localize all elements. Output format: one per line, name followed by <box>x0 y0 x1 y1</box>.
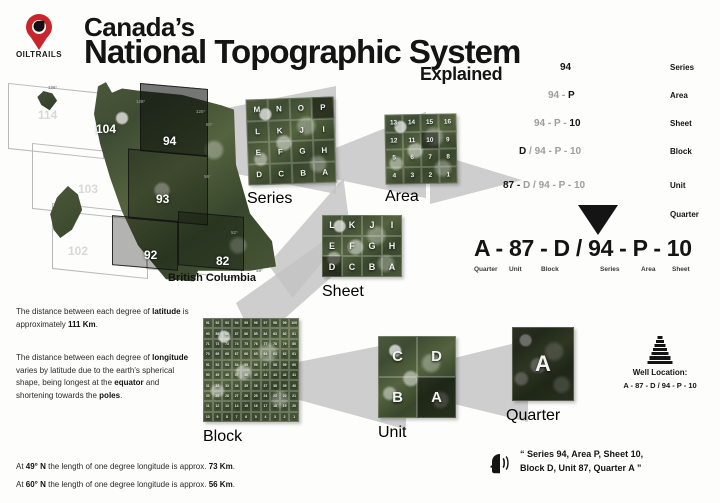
block-cell[interactable]: 48 <box>222 370 232 380</box>
code-part-label-block: Block <box>541 266 559 273</box>
oil-derrick-icon <box>646 336 674 366</box>
block-cell[interactable]: 54 <box>232 360 242 370</box>
degree-tick: 136° <box>48 85 57 90</box>
block-cell[interactable]: 70 <box>203 349 213 359</box>
degree-tick: 60° <box>206 122 213 127</box>
unit-cell[interactable]: D <box>417 336 456 377</box>
panel-unit-caption: Unit <box>378 424 456 442</box>
block-cell[interactable]: 46 <box>241 370 251 380</box>
block-cell[interactable]: 14 <box>232 401 242 411</box>
block-cell[interactable]: 72 <box>213 339 223 349</box>
block-cell[interactable]: 44 <box>261 370 271 380</box>
series-cell[interactable]: N <box>268 98 291 120</box>
block-cell[interactable]: 64 <box>261 349 271 359</box>
map-nts-cell-92 <box>112 215 178 271</box>
degree-tick: 49° <box>256 268 263 273</box>
series-cell[interactable]: C <box>270 162 293 184</box>
legend-code-series: 94 <box>560 62 571 73</box>
sheet-grid: LKJIEFGHDCBA <box>322 215 402 277</box>
unit-cell[interactable]: C <box>378 336 417 377</box>
degree-tick: 56° <box>204 174 211 179</box>
block-cell[interactable]: 26 <box>241 391 251 401</box>
legend-label-quarter: Quarter <box>670 210 699 219</box>
block-cell[interactable]: 85 <box>251 328 261 338</box>
note-latitude-end: . <box>96 320 98 329</box>
map-cell-label-103: 103 <box>78 182 98 196</box>
sheet-cell[interactable]: E <box>322 236 342 257</box>
block-cell[interactable]: 37 <box>261 380 271 390</box>
block-cell[interactable]: 66 <box>241 349 251 359</box>
area-cell[interactable]: 1 <box>439 166 457 184</box>
series-cell[interactable]: D <box>248 163 271 185</box>
block-cell[interactable]: 9 <box>213 412 223 422</box>
panel-block-caption: Block <box>203 428 299 446</box>
block-cell[interactable]: 21 <box>289 391 299 401</box>
block-cell[interactable]: 80 <box>289 339 299 349</box>
map-nts-cell-82 <box>178 211 244 271</box>
block-cell[interactable]: 13 <box>222 401 232 411</box>
area-cell[interactable]: 12 <box>385 132 403 150</box>
legend-suffix-unit: D / 94 - P - 10 <box>523 180 585 191</box>
block-cell[interactable]: 91 <box>203 318 213 328</box>
legend-label-sheet: Sheet <box>670 119 692 128</box>
block-cell[interactable]: 90 <box>203 328 213 338</box>
block-cell[interactable]: 99 <box>280 318 290 328</box>
block-cell[interactable]: 35 <box>241 380 251 390</box>
code-part-label-unit: Unit <box>509 266 522 273</box>
code-part-label-area: Area <box>641 266 655 273</box>
block-cell[interactable]: 71 <box>203 339 213 349</box>
sheet-cell[interactable]: J <box>362 215 382 236</box>
block-cell[interactable]: 92 <box>213 318 223 328</box>
area-cell[interactable]: 11 <box>403 132 421 150</box>
map-cell-label-93: 93 <box>156 192 169 206</box>
block-cell[interactable]: 56 <box>251 360 261 370</box>
area-cell[interactable]: 7 <box>421 149 439 167</box>
series-cell[interactable]: H <box>313 139 336 161</box>
block-cell[interactable]: 19 <box>280 401 290 411</box>
block-cell[interactable]: 24 <box>261 391 271 401</box>
block-cell[interactable]: 58 <box>270 360 280 370</box>
legend-row-area: 94 - P <box>548 90 575 101</box>
block-cell[interactable]: 93 <box>222 318 232 328</box>
block-cell[interactable]: 76 <box>251 339 261 349</box>
area-grid: 13141516121110956784321 <box>384 113 457 184</box>
block-cell[interactable]: 87 <box>232 328 242 338</box>
degree-tick: 120° <box>196 109 205 114</box>
sheet-cell[interactable]: H <box>382 236 402 257</box>
block-cell[interactable]: 36 <box>251 380 261 390</box>
block-cell[interactable]: 73 <box>222 339 232 349</box>
legend-code-sheet: 10 <box>569 118 580 129</box>
block-cell[interactable]: 43 <box>270 370 280 380</box>
note-longitude: The distance between each degree of long… <box>16 352 194 402</box>
block-cell[interactable]: 4 <box>261 412 271 422</box>
block-cell[interactable]: 7 <box>232 412 242 422</box>
block-cell[interactable]: 59 <box>280 360 290 370</box>
legend-row-block: D / 94 - P - 10 <box>519 146 581 157</box>
map-cell-label-102: 102 <box>68 244 88 258</box>
logo-wordmark: OILTRAILS <box>8 50 70 59</box>
block-cell[interactable]: 8 <box>222 412 232 422</box>
series-cell[interactable]: P <box>311 96 334 118</box>
block-cell[interactable]: 31 <box>203 380 213 390</box>
block-cell[interactable]: 10 <box>203 412 213 422</box>
block-cell[interactable]: 82 <box>280 328 290 338</box>
series-cell[interactable]: M <box>246 99 269 121</box>
legend-label-unit: Unit <box>670 181 686 190</box>
series-grid: MNOPLKJIEFGHDCBA <box>246 96 337 185</box>
block-cell[interactable]: 5 <box>251 412 261 422</box>
block-cell[interactable]: 28 <box>222 391 232 401</box>
area-cell[interactable]: 15 <box>420 114 438 132</box>
series-cell[interactable]: I <box>312 118 335 140</box>
block-cell[interactable]: 32 <box>213 380 223 390</box>
block-grid: 9192939495969798991009089888786858483828… <box>203 318 299 422</box>
note-latitude: The distance between each degree of lati… <box>16 306 196 331</box>
series-cell[interactable]: L <box>246 120 269 142</box>
area-cell[interactable]: 2 <box>421 166 439 184</box>
block-cell[interactable]: 63 <box>270 349 280 359</box>
degree-tick: 52° <box>231 230 238 235</box>
panel-quarter-caption: Quarter <box>506 407 580 425</box>
title-line-3: Explained <box>420 64 502 85</box>
note-latitude-text: The distance between each degree of <box>16 307 150 316</box>
area-cell[interactable]: 13 <box>384 114 402 132</box>
quote-line-1: “ Series 94, Area P, Sheet 10, <box>520 447 643 461</box>
block-cell[interactable]: 6 <box>241 412 251 422</box>
code-part-label-series: Series <box>600 266 620 273</box>
block-cell[interactable]: 100 <box>289 318 299 328</box>
series-cell[interactable]: B <box>292 162 315 184</box>
block-cell[interactable]: 25 <box>251 391 261 401</box>
sheet-cell[interactable]: D <box>322 256 342 277</box>
block-cell[interactable]: 95 <box>241 318 251 328</box>
speaking-head-icon <box>484 450 510 476</box>
sheet-cell[interactable]: G <box>362 236 382 257</box>
block-cell[interactable]: 84 <box>261 328 271 338</box>
series-cell[interactable]: G <box>291 140 314 162</box>
block-cell[interactable]: 62 <box>280 349 290 359</box>
unit-grid: CDBA <box>378 336 456 418</box>
block-cell[interactable]: 2 <box>280 412 290 422</box>
sheet-cell[interactable]: A <box>382 256 402 277</box>
degree-tick: 128° <box>136 99 145 104</box>
block-cell[interactable]: 30 <box>203 391 213 401</box>
map-cell-label-92: 92 <box>144 248 157 262</box>
block-cell[interactable]: 51 <box>203 360 213 370</box>
area-cell[interactable]: 4 <box>385 167 403 185</box>
block-cell[interactable]: 29 <box>213 391 223 401</box>
area-cell[interactable]: 6 <box>403 149 421 167</box>
fact-49n: At 49° N the length of one degree longit… <box>16 462 296 471</box>
legend-row-sheet: 94 - P - 10 <box>534 118 581 129</box>
spoken-quote: “ Series 94, Area P, Sheet 10, Block D, … <box>520 447 643 475</box>
area-cell[interactable]: 8 <box>439 148 457 166</box>
map-cell-label-114: 114 <box>38 108 57 122</box>
panel-series-caption: Series <box>247 190 335 208</box>
map-cell-label-104: 104 <box>96 122 116 136</box>
block-cell[interactable]: 69 <box>213 349 223 359</box>
block-cell[interactable]: 17 <box>261 401 271 411</box>
block-cell[interactable]: 23 <box>270 391 280 401</box>
block-cell[interactable]: 33 <box>222 380 232 390</box>
area-cell[interactable]: 9 <box>439 131 457 149</box>
sheet-cell[interactable]: K <box>342 215 362 236</box>
note-latitude-value: 111 Km <box>68 320 96 329</box>
block-cell[interactable]: 47 <box>232 370 242 380</box>
legend-row-unit: 87 - D / 94 - P - 10 <box>503 180 585 191</box>
code-part-label-quarter: Quarter <box>474 266 497 273</box>
block-cell[interactable]: 83 <box>270 328 280 338</box>
note-latitude-bold-term: latitude <box>152 307 180 316</box>
legend-label-area: Area <box>670 91 688 100</box>
quote-line-2: Block D, Unit 87, Quarter A ” <box>520 461 643 475</box>
area-cell[interactable]: 16 <box>438 113 456 131</box>
block-cell[interactable]: 49 <box>213 370 223 380</box>
block-cell[interactable]: 94 <box>232 318 242 328</box>
block-cell[interactable]: 34 <box>232 380 242 390</box>
block-cell[interactable]: 88 <box>222 328 232 338</box>
block-cell[interactable]: 45 <box>251 370 261 380</box>
legend-prefix-area: 94 - <box>548 90 568 101</box>
panel-series[interactable]: MNOPLKJIEFGHDCBA <box>246 96 337 185</box>
map-cell-label-82: 82 <box>216 254 229 268</box>
legend-row-series: 94 <box>560 62 571 73</box>
block-cell[interactable]: 20 <box>289 401 299 411</box>
block-cell[interactable]: 98 <box>270 318 280 328</box>
legend-label-series: Series <box>670 63 694 72</box>
series-cell[interactable]: K <box>268 120 291 142</box>
panel-area-caption: Area <box>385 188 457 206</box>
block-cell[interactable]: 15 <box>241 401 251 411</box>
series-cell[interactable]: O <box>289 97 312 119</box>
block-cell[interactable]: 97 <box>261 318 271 328</box>
sheet-cell[interactable]: F <box>342 236 362 257</box>
block-cell[interactable]: 22 <box>280 391 290 401</box>
block-cell[interactable]: 41 <box>289 370 299 380</box>
legend-prefix-sheet: 94 - P - <box>534 118 569 129</box>
series-cell[interactable]: A <box>314 161 337 183</box>
unit-cell[interactable]: B <box>378 377 417 418</box>
block-cell[interactable]: 86 <box>241 328 251 338</box>
area-cell[interactable]: 5 <box>385 149 403 167</box>
block-cell[interactable]: 96 <box>251 318 261 328</box>
quarter-grid: A <box>512 327 574 401</box>
legend-suffix-block: / 94 - P - 10 <box>526 146 581 157</box>
panel-sheet-caption: Sheet <box>322 283 402 301</box>
panel-unit[interactable]: CDBA <box>378 336 456 418</box>
block-cell[interactable]: 38 <box>270 380 280 390</box>
map-region-label: British Columbia <box>168 272 256 284</box>
area-cell[interactable]: 3 <box>403 166 421 184</box>
panel-block[interactable]: 9192939495969798991009089888786858483828… <box>203 318 299 422</box>
down-triangle-icon <box>578 205 618 235</box>
series-cell[interactable]: J <box>290 119 313 141</box>
block-cell[interactable]: 65 <box>251 349 261 359</box>
sheet-cell[interactable]: L <box>322 215 342 236</box>
legend-code-unit: 87 - <box>503 180 523 191</box>
block-cell[interactable]: 61 <box>289 349 299 359</box>
block-cell[interactable]: 79 <box>280 339 290 349</box>
sheet-cell[interactable]: I <box>382 215 402 236</box>
block-cell[interactable]: 57 <box>261 360 271 370</box>
block-cell[interactable]: 60 <box>289 360 299 370</box>
full-code-display: A - 87 - D / 94 - P - 10 <box>474 235 692 262</box>
block-cell[interactable]: 74 <box>232 339 242 349</box>
block-cell[interactable]: 81 <box>289 328 299 338</box>
panel-area[interactable]: 13141516121110956784321 <box>384 113 457 184</box>
block-cell[interactable]: 53 <box>222 360 232 370</box>
panel-quarter[interactable]: A <box>512 327 574 401</box>
block-cell[interactable]: 39 <box>280 380 290 390</box>
legend-code-area: P <box>568 90 575 101</box>
map-cell-label-94: 94 <box>163 134 176 148</box>
block-cell[interactable]: 68 <box>222 349 232 359</box>
block-cell[interactable]: 12 <box>213 401 223 411</box>
block-cell[interactable]: 16 <box>251 401 261 411</box>
infographic-poster: OILTRAILS Canada’s National Topographic … <box>0 0 720 503</box>
block-cell[interactable]: 27 <box>232 391 242 401</box>
block-cell[interactable]: 55 <box>241 360 251 370</box>
code-part-label-sheet: Sheet <box>672 266 690 273</box>
block-cell[interactable]: 18 <box>270 401 280 411</box>
quarter-cell[interactable]: A <box>512 327 574 401</box>
panel-sheet[interactable]: LKJIEFGHDCBA <box>322 215 402 277</box>
block-cell[interactable]: 89 <box>213 328 223 338</box>
block-cell[interactable]: 67 <box>232 349 242 359</box>
area-cell[interactable]: 10 <box>421 131 439 149</box>
block-cell[interactable]: 40 <box>289 380 299 390</box>
block-cell[interactable]: 77 <box>261 339 271 349</box>
sheet-cell[interactable]: B <box>362 256 382 277</box>
series-cell[interactable]: F <box>269 141 292 163</box>
block-cell[interactable]: 3 <box>270 412 280 422</box>
block-cell[interactable]: 1 <box>289 412 299 422</box>
unit-cell[interactable]: A <box>417 377 456 418</box>
block-cell[interactable]: 11 <box>203 401 213 411</box>
series-cell[interactable]: E <box>247 142 270 164</box>
block-cell[interactable]: 42 <box>280 370 290 380</box>
pin-point-icon <box>30 36 48 50</box>
well-location-title: Well Location: <box>605 368 715 377</box>
block-cell[interactable]: 52 <box>213 360 223 370</box>
well-location-code: A - 87 - D / 94 - P - 10 <box>600 381 720 390</box>
block-cell[interactable]: 50 <box>203 370 213 380</box>
oiltrails-logo: OILTRAILS <box>8 12 70 64</box>
block-cell[interactable]: 75 <box>241 339 251 349</box>
sheet-cell[interactable]: C <box>342 256 362 277</box>
legend-label-block: Block <box>670 147 692 156</box>
area-cell[interactable]: 14 <box>402 114 420 132</box>
fact-60n: At 60° N the length of one degree longit… <box>16 480 296 489</box>
block-cell[interactable]: 78 <box>270 339 280 349</box>
